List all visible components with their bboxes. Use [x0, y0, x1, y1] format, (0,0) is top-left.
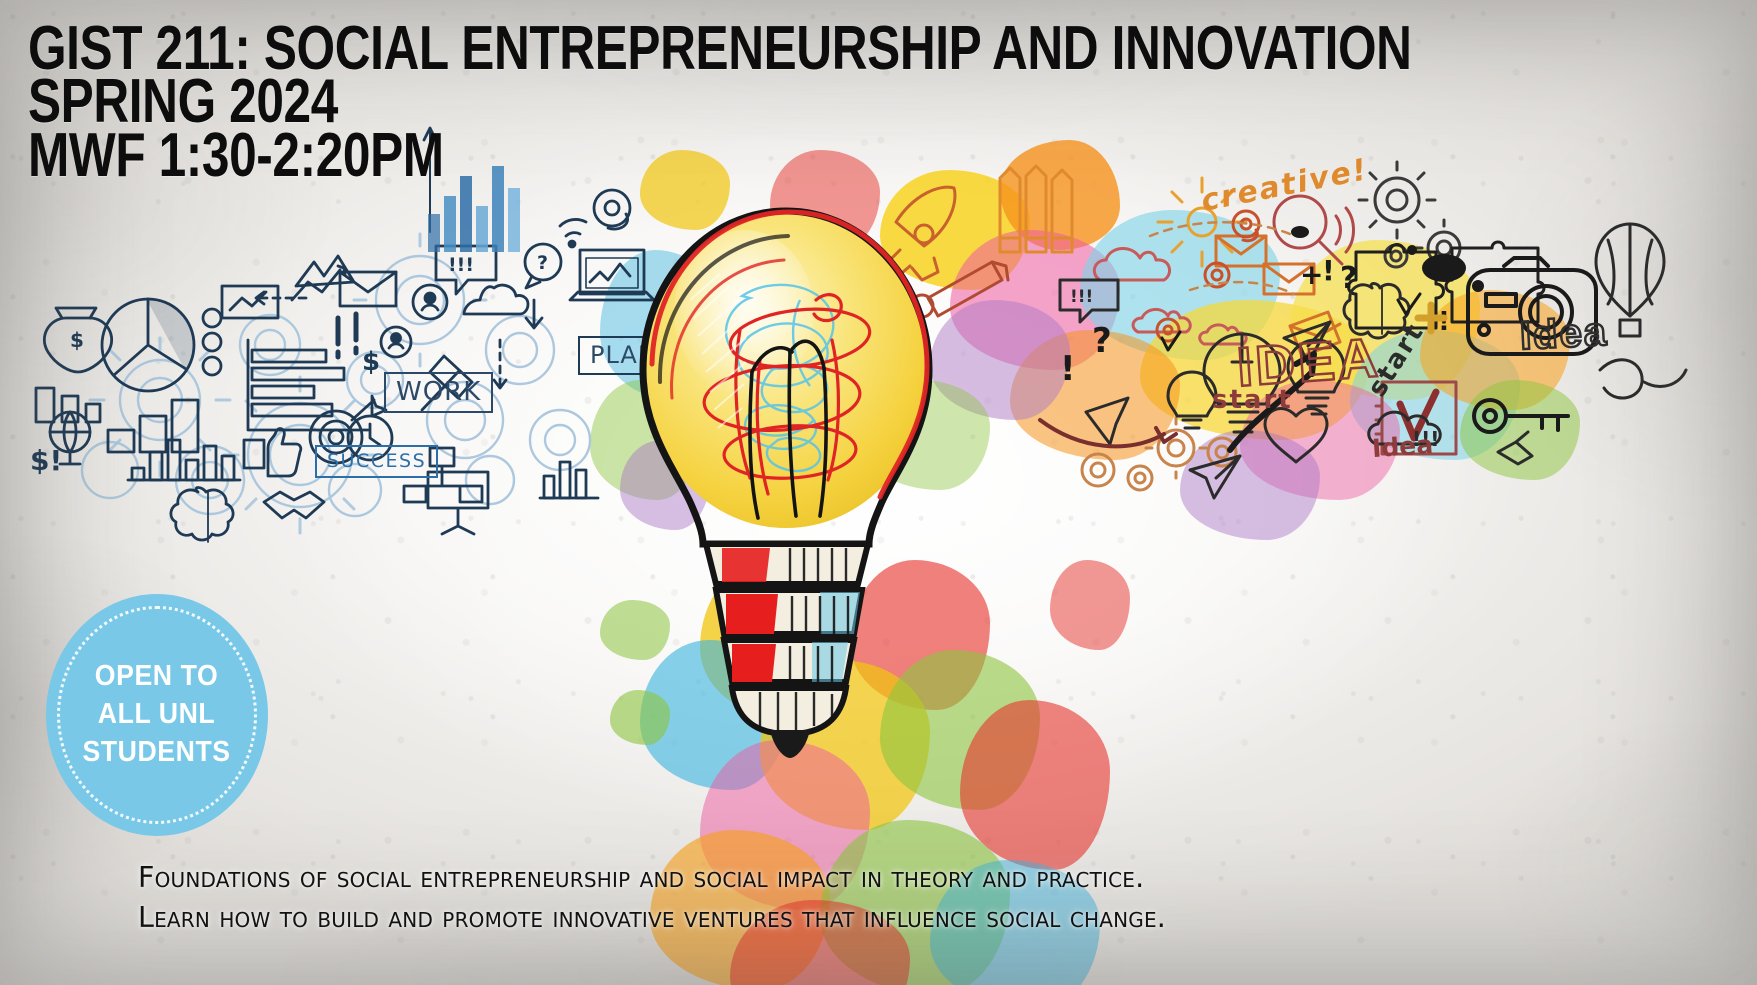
badge-line-2: ALL UNL — [83, 696, 231, 734]
course-schedule: MWF 1:30-2:20PM — [28, 129, 1412, 182]
badge-line-1: OPEN TO — [83, 658, 231, 696]
badge-text-block: OPEN TO ALL UNL STUDENTS — [83, 658, 231, 771]
badge-line-3: STUDENTS — [83, 734, 231, 772]
description-line-1: Foundations of social entrepreneurship a… — [138, 858, 1166, 898]
description-block: Foundations of social entrepreneurship a… — [138, 858, 1166, 939]
description-line-2: Learn how to build and promote innovativ… — [138, 898, 1166, 938]
heading-block: GIST 211: Social Entrepreneurship and In… — [28, 22, 1757, 182]
course-flyer: $ $! — [0, 0, 1757, 985]
open-to-all-badge: OPEN TO ALL UNL STUDENTS — [46, 594, 268, 836]
